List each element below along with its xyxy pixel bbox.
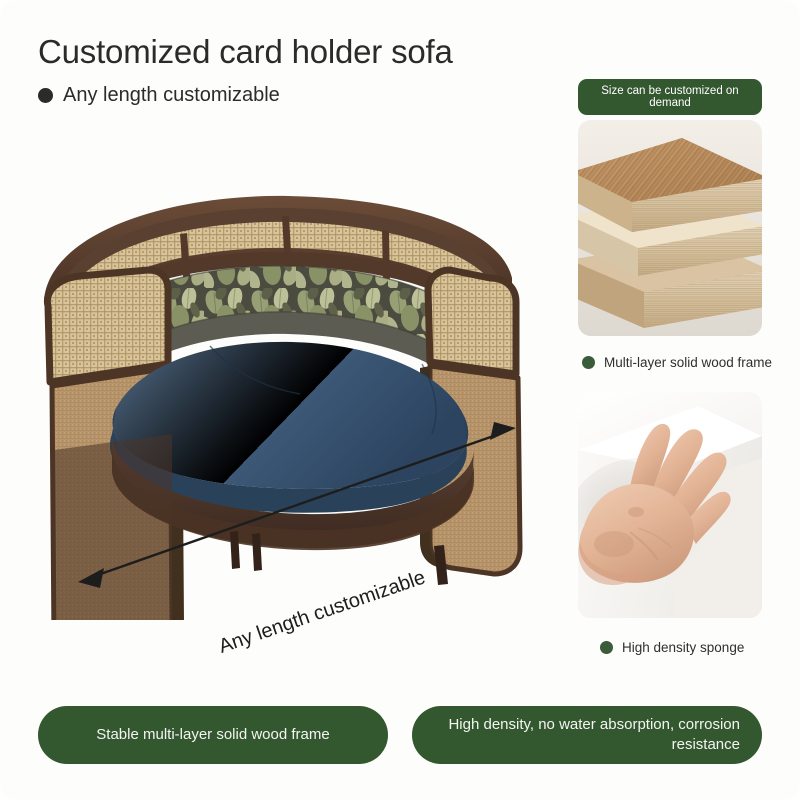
filled-circle-bullet-icon: [38, 88, 53, 103]
plywood-stack-illustration: [578, 120, 762, 336]
caption-multi-layer-frame: Multi-layer solid wood frame: [582, 355, 772, 370]
base-left-block: [54, 434, 172, 620]
caption-label: High density sponge: [622, 640, 744, 655]
size-customizable-badge: Size can be customized on demand: [578, 79, 762, 115]
curved-sofa-illustration: [20, 150, 560, 620]
subtitle-row: Any length customizable: [38, 83, 280, 107]
hand-pressing-foam-image: [578, 392, 762, 618]
plywood-stack-image: [578, 120, 762, 336]
caption-label: Multi-layer solid wood frame: [604, 355, 772, 370]
feature-pill-wood-frame[interactable]: Stable multi-layer solid wood frame: [38, 706, 388, 764]
subtitle-label: Any length customizable: [63, 83, 280, 107]
foam-hand-illustration: [578, 392, 762, 618]
product-detail-page: Customized card holder sofa Any length c…: [0, 0, 800, 800]
filled-circle-bullet-icon: [582, 356, 595, 369]
feature-pill-high-density[interactable]: High density, no water absorption, corro…: [412, 706, 762, 764]
product-image: Any length customizable: [20, 150, 560, 620]
filled-circle-bullet-icon: [600, 641, 613, 654]
page-title: Customized card holder sofa: [38, 32, 453, 72]
caption-high-density-sponge: High density sponge: [600, 640, 744, 655]
